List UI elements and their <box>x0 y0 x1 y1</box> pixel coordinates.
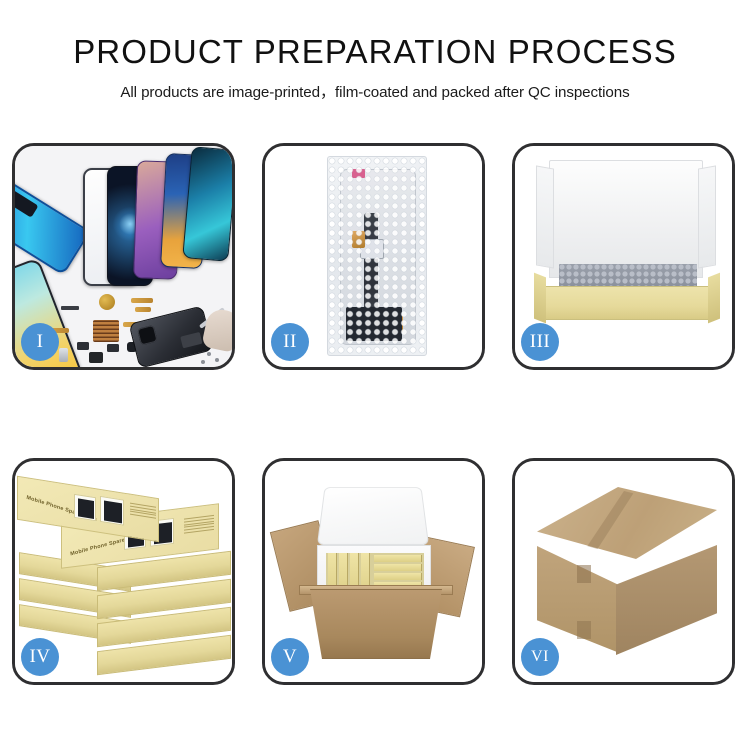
part-chip-icon <box>107 344 119 352</box>
box-print-screen-image <box>74 494 96 521</box>
part-speaker-icon <box>89 352 103 363</box>
step-badge-5: V <box>271 638 309 676</box>
part-battery-icon <box>59 348 68 362</box>
carton-tape-lower-icon <box>577 621 591 639</box>
gold-connector-icon <box>352 231 365 248</box>
component-cluster-icon <box>346 307 402 341</box>
process-steps-grid: I II <box>12 143 738 685</box>
phone-back-housing-icon <box>129 305 214 367</box>
screw-icon <box>215 358 219 362</box>
page-title: PRODUCT PREPARATION PROCESS <box>0 33 750 71</box>
boxed-part <box>374 573 422 580</box>
foam-lid-icon <box>317 487 429 545</box>
boxed-part <box>374 564 422 571</box>
box-print-spec-lines <box>184 515 214 535</box>
box-lid-icon <box>549 160 703 278</box>
step-badge-2: II <box>271 323 309 361</box>
step-badge-3: III <box>521 323 559 361</box>
screw-icon <box>201 360 205 364</box>
step-badge-1: I <box>21 323 59 361</box>
process-step-6: VI <box>512 458 735 685</box>
flex-cable-icon <box>364 213 378 317</box>
process-step-1: I <box>12 143 235 370</box>
process-step-4: Mobile Phone Spare Parts Mobile Phone Sp… <box>12 458 235 685</box>
boxed-part <box>374 555 422 562</box>
carton-body-icon <box>301 589 451 659</box>
page-subtitle: All products are image-printed，film-coat… <box>0 80 750 102</box>
carton-right-face-icon <box>616 545 717 655</box>
pink-label-icon <box>352 169 365 178</box>
kraft-tray-icon <box>543 286 711 320</box>
part-bar-icon <box>61 306 79 310</box>
bubble-wrap-bag-icon <box>327 156 427 356</box>
screw-icon <box>207 352 211 356</box>
part-flex-cable-icon <box>135 307 151 312</box>
phone-screen-teal-icon <box>182 146 232 262</box>
part-chip-icon <box>77 342 89 350</box>
process-step-3: III <box>512 143 735 370</box>
process-step-5: V <box>262 458 485 685</box>
hand-icon <box>201 307 232 353</box>
step-badge-4: IV <box>21 638 59 676</box>
header: PRODUCT PREPARATION PROCESS All products… <box>0 0 750 102</box>
part-copper-mesh-icon <box>93 320 119 342</box>
carton-tape-upper-icon <box>577 565 591 583</box>
product-preparation-page: PRODUCT PREPARATION PROCESS All products… <box>0 0 750 750</box>
step-badge-6: VI <box>521 638 559 676</box>
box-print-spec-lines <box>130 503 156 521</box>
part-flex-cable-icon <box>131 298 153 303</box>
process-step-2: II <box>262 143 485 370</box>
part-speaker-coil-icon <box>99 294 115 310</box>
box-print-screen-image <box>100 496 124 526</box>
